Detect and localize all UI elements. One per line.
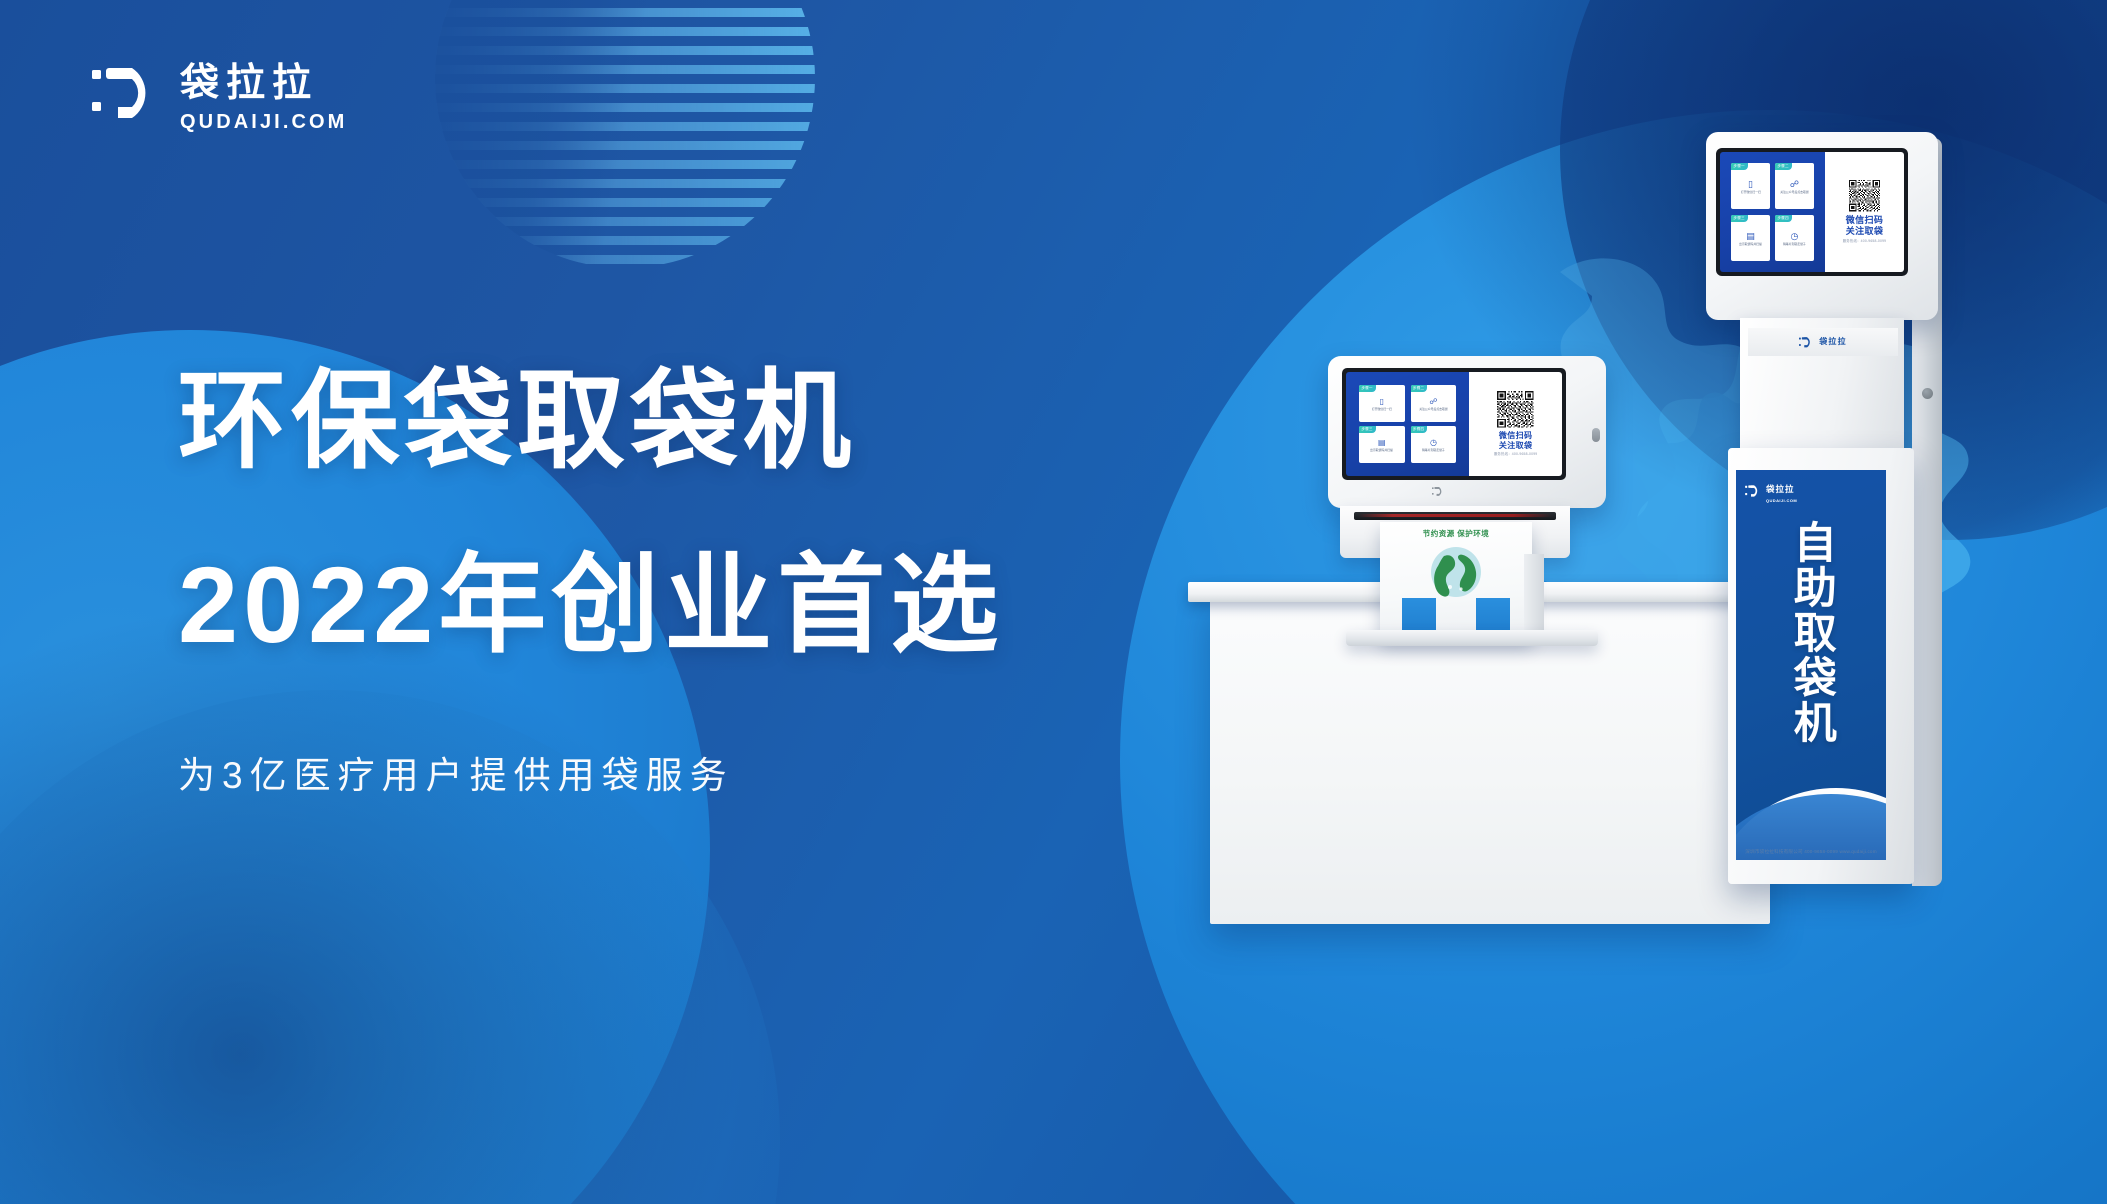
panel-brand-name-cn: 袋拉拉 (1766, 484, 1795, 494)
hero-subline: 为3亿医疗用户提供用袋服务 (178, 757, 1003, 794)
dispensed-eco-bag: 节约资源 保护环境 (1380, 522, 1532, 640)
step-tag: 步骤四 (1775, 215, 1792, 222)
step-tag: 步骤三 (1731, 215, 1748, 222)
screen-qr-panel: 微信扫码 关注取袋 服务热线：400-9658-0099 (1825, 152, 1904, 272)
kiosk-front-panel: 袋拉拉 QUDAIJI.COM 自助取袋机 深圳市袋拉拉科技有限公司 400-9… (1736, 470, 1886, 860)
step-tag: 步骤一 (1359, 385, 1376, 392)
step-caption: 出示取袋码并扫描 (1737, 243, 1763, 246)
step-tag: 步骤三 (1359, 426, 1376, 433)
step-caption: 关注公众号后点击取袋 (1417, 408, 1449, 411)
qr-code-icon: ▤ (1378, 439, 1386, 447)
countertop-brand-chip (1432, 484, 1445, 495)
screen-qr-panel: 微信扫码 关注取袋 服务热线：400-9658-0099 (1469, 372, 1562, 476)
kiosk-screen-ui[interactable]: 步骤一 ▯ 打开微信扫一扫 步骤二 ☍ 关注公众号后点击取袋 步骤三 ▤ (1720, 152, 1904, 272)
headline-line-1: 环保袋取袋机 (178, 355, 1003, 487)
step-tag: 步骤二 (1411, 385, 1428, 392)
countertop-kiosk: 步骤一 ▯ 打开微信扫一扫 步骤二 ☍ 关注公众号后点击取袋 步骤三 ▤ (1328, 356, 1628, 608)
step-tag: 步骤一 (1731, 163, 1748, 170)
step-card[interactable]: 步骤四 ◷ 稍等片刻取走袋子 (1411, 426, 1457, 463)
phone-scan-icon: ▯ (1380, 398, 1384, 406)
qudaiji-logo-icon (92, 62, 166, 124)
clock-wait-icon: ◷ (1430, 439, 1437, 447)
step-tag: 步骤四 (1411, 426, 1428, 433)
step-card[interactable]: 步骤三 ▤ 出示取袋码并扫描 (1731, 215, 1770, 261)
clock-wait-icon: ◷ (1791, 232, 1799, 241)
step-card[interactable]: 步骤一 ▯ 打开微信扫一扫 (1359, 385, 1405, 422)
qudaiji-logo-icon (1432, 484, 1445, 495)
step-caption: 稍等片刻取走袋子 (1781, 243, 1807, 246)
kiosk-panel-footnote: 深圳市袋拉拉科技有限公司 400-9658-0099 www.qudaiji.c… (1736, 849, 1886, 855)
countertop-screen-ui[interactable]: 步骤一 ▯ 打开微信扫一扫 步骤二 ☍ 关注公众号后点击取袋 步骤三 ▤ (1346, 372, 1562, 476)
brand-name-en: QUDAIJI.COM (180, 112, 347, 132)
promo-banner: 袋拉拉 QUDAIJI.COM 环保袋取袋机 2022年创业首选 为3亿医疗用户… (0, 0, 2107, 1204)
step-caption: 打开微信扫一扫 (1370, 408, 1394, 411)
qr-code-icon: ▤ (1746, 232, 1755, 241)
striped-arc-decor (435, 0, 815, 268)
kiosk-brand-name: 袋拉拉 (1819, 338, 1847, 346)
qudaiji-logo-icon (1799, 336, 1814, 348)
kiosk-side-port-icon (1922, 388, 1933, 399)
step-caption: 出示取袋码并扫描 (1369, 450, 1395, 453)
step-card[interactable]: 步骤二 ☍ 关注公众号后点击取袋 (1411, 385, 1457, 422)
countertop-stand-arm (1524, 554, 1544, 636)
brand-logo[interactable]: 袋拉拉 QUDAIJI.COM (92, 62, 347, 132)
panel-brand-name-en: QUDAIJI.COM (1766, 499, 1797, 503)
screen-hotline: 服务热线：400-9658-0099 (1843, 240, 1887, 243)
brand-logo-text: 袋拉拉 QUDAIJI.COM (180, 62, 347, 132)
earth-globe-icon (1430, 546, 1482, 598)
headline-line-2: 2022年创业首选 (178, 539, 1003, 671)
hero-copy: 环保袋取袋机 2022年创业首选 为3亿医疗用户提供用袋服务 (178, 355, 1003, 794)
qudaiji-logo-icon (1745, 484, 1762, 498)
screen-cta-line-2: 关注取袋 (1846, 226, 1884, 237)
step-card[interactable]: 步骤一 ▯ 打开微信扫一扫 (1731, 163, 1770, 209)
countertop-touchscreen[interactable]: 步骤一 ▯ 打开微信扫一扫 步骤二 ☍ 关注公众号后点击取袋 步骤三 ▤ (1342, 368, 1566, 480)
kiosk-brand-bar: 袋拉拉 (1748, 328, 1898, 356)
wechat-qr-code-icon[interactable] (1849, 180, 1880, 211)
wechat-qr-code-icon[interactable] (1497, 391, 1534, 428)
dispenser-slot-indicator (1358, 514, 1552, 517)
step-card[interactable]: 步骤三 ▤ 出示取袋码并扫描 (1359, 426, 1405, 463)
step-caption: 稍等片刻取走袋子 (1420, 450, 1446, 453)
countertop-stand-base (1346, 630, 1598, 646)
wechat-follow-icon: ☍ (1429, 398, 1437, 406)
step-card[interactable]: 步骤四 ◷ 稍等片刻取走袋子 (1775, 215, 1814, 261)
step-tag: 步骤二 (1775, 163, 1792, 170)
product-photo: 步骤一 ▯ 打开微信扫一扫 步骤二 ☍ 关注公众号后点击取袋 步骤三 ▤ (1180, 120, 2100, 950)
countertop-side-button[interactable] (1592, 428, 1600, 442)
screen-cta-line-2: 关注取袋 (1499, 441, 1533, 451)
screen-hotline: 服务热线：400-9658-0099 (1494, 453, 1538, 456)
step-caption: 关注公众号后点击取袋 (1778, 191, 1810, 194)
step-card[interactable]: 步骤二 ☍ 关注公众号后点击取袋 (1775, 163, 1814, 209)
screen-cta: 微信扫码 关注取袋 (1846, 215, 1884, 238)
screen-steps-panel: 步骤一 ▯ 打开微信扫一扫 步骤二 ☍ 关注公众号后点击取袋 步骤三 ▤ (1720, 152, 1825, 272)
step-caption: 打开微信扫一扫 (1739, 191, 1763, 194)
screen-cta: 微信扫码 关注取袋 (1499, 431, 1533, 451)
brand-name-cn: 袋拉拉 (180, 64, 347, 103)
eco-bag-slogan: 节约资源 保护环境 (1380, 528, 1532, 539)
floor-standing-kiosk: 步骤一 ▯ 打开微信扫一扫 步骤二 ☍ 关注公众号后点击取袋 步骤三 ▤ (1696, 132, 1942, 932)
phone-scan-icon: ▯ (1748, 180, 1753, 189)
screen-cta-line-1: 微信扫码 (1846, 215, 1884, 226)
screen-cta-line-1: 微信扫码 (1499, 431, 1533, 441)
wechat-follow-icon: ☍ (1790, 180, 1799, 189)
kiosk-vertical-label: 自助取袋机 (1788, 520, 1834, 745)
kiosk-touchscreen[interactable]: 步骤一 ▯ 打开微信扫一扫 步骤二 ☍ 关注公众号后点击取袋 步骤三 ▤ (1716, 148, 1908, 276)
screen-steps-panel: 步骤一 ▯ 打开微信扫一扫 步骤二 ☍ 关注公众号后点击取袋 步骤三 ▤ (1346, 372, 1469, 476)
panel-brand-logo: 袋拉拉 QUDAIJI.COM (1745, 479, 1797, 503)
